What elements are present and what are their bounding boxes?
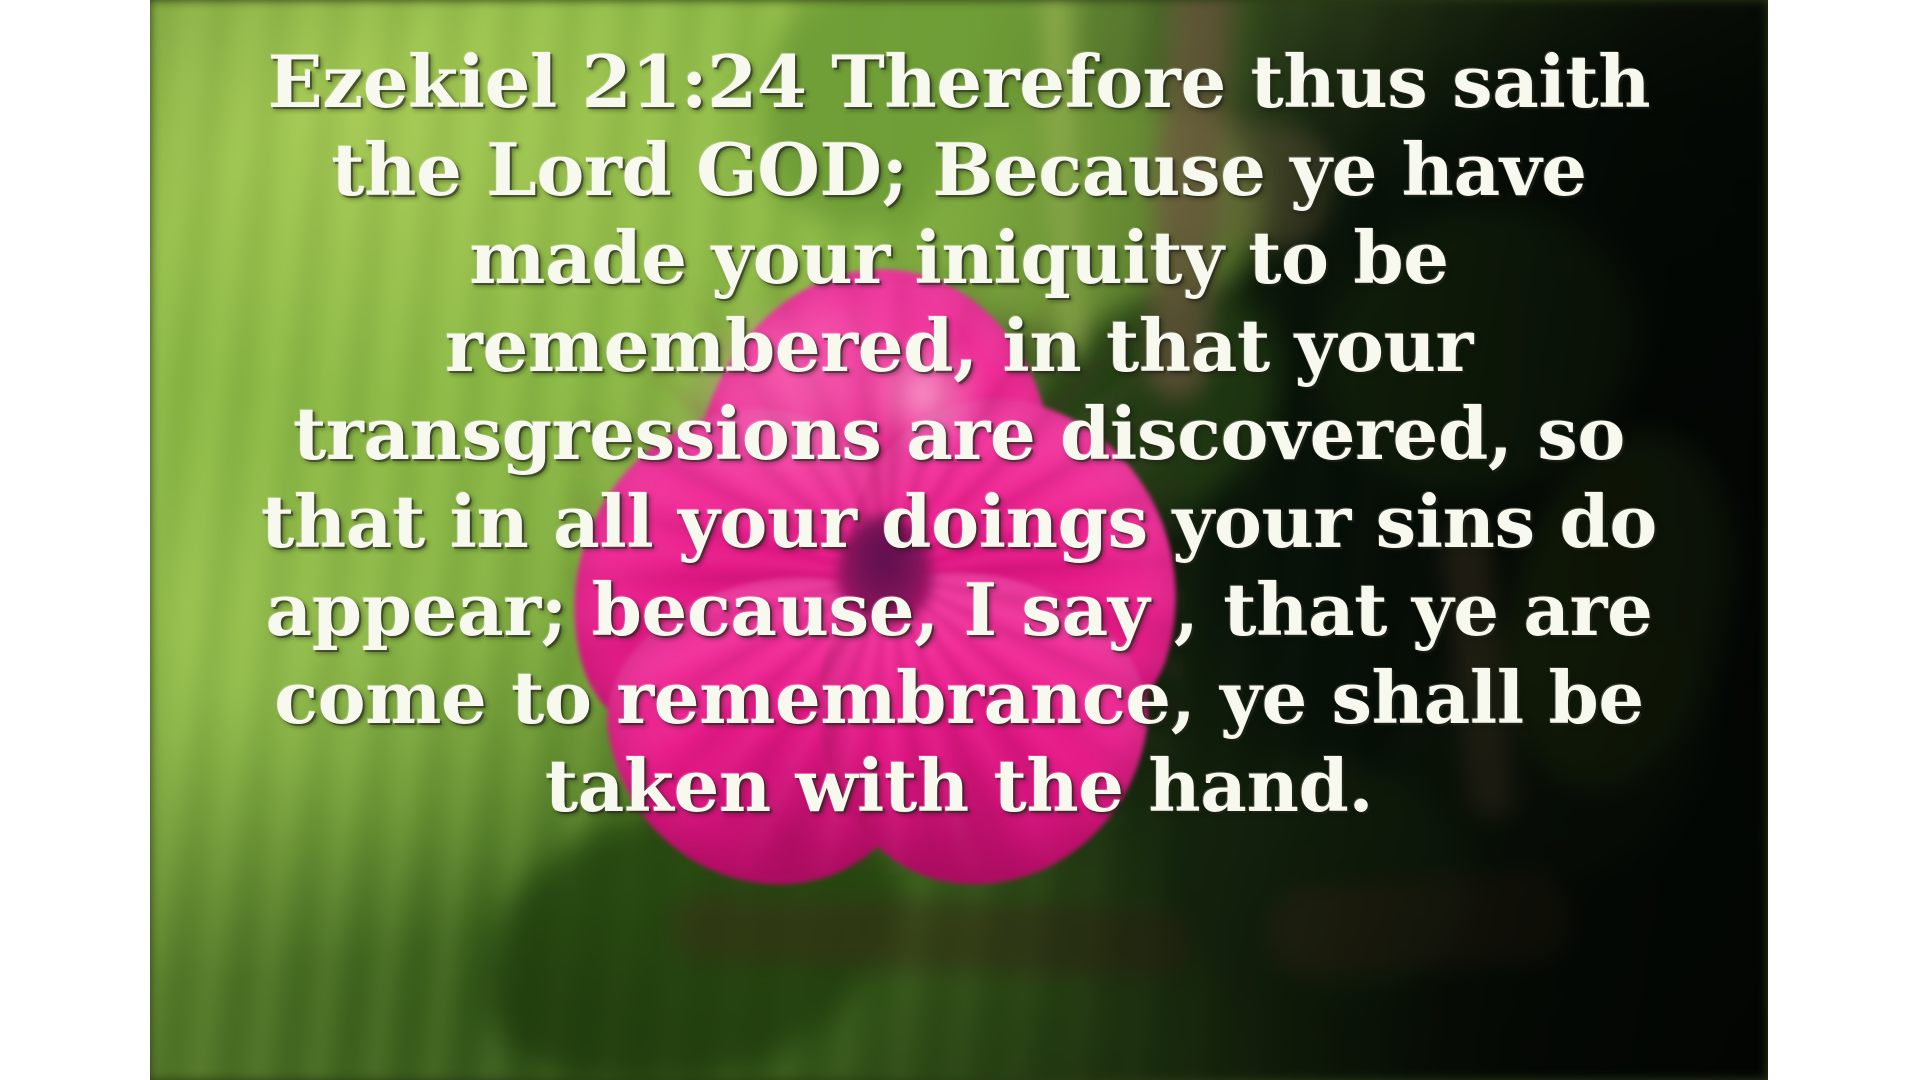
verse-line: Ezekiel 21:24 Therefore thus saith [268, 38, 1650, 126]
slide-page: Ezekiel 21:24 Therefore thus saith the L… [0, 0, 1920, 1080]
verse-line: appear; because, I say , that ye are [265, 566, 1652, 654]
verse-line: taken with the hand. [545, 742, 1373, 830]
verse-line: come to remembrance, ye shall be [274, 654, 1644, 742]
verse-line: transgressions are discovered, so [293, 390, 1625, 478]
verse-line: remembered, in that your [445, 302, 1473, 390]
verse-line: that in all your doings your sins do [261, 478, 1657, 566]
verse-text-block: Ezekiel 21:24 Therefore thus saith the L… [150, 0, 1768, 1080]
verse-line: the Lord GOD; Because ye have [331, 126, 1586, 214]
verse-line: made your iniquity to be [469, 214, 1448, 302]
